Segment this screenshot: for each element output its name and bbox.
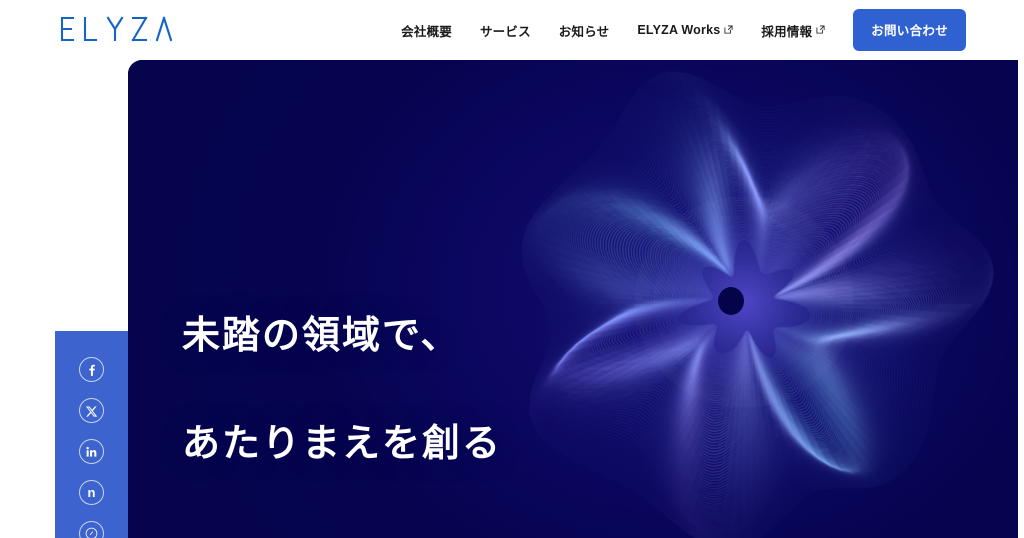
social-icon-partial[interactable] xyxy=(79,521,104,538)
nav-news[interactable]: お知らせ xyxy=(545,21,624,40)
external-link-icon xyxy=(816,25,825,34)
page-root: 会社概要 サービス お知らせ ELYZA Works 採用 xyxy=(0,0,1024,538)
external-link-icon xyxy=(724,25,733,34)
elyza-logo-mark xyxy=(60,16,172,42)
nav-news-label: お知らせ xyxy=(559,21,610,40)
nav-elyza-works-label: ELYZA Works xyxy=(637,23,720,37)
nav-service-label: サービス xyxy=(480,21,531,40)
elyza-logo[interactable] xyxy=(60,16,172,42)
nav-company[interactable]: 会社概要 xyxy=(387,21,466,40)
nav-service[interactable]: サービス xyxy=(466,21,545,40)
follow-rail: FOLLOW n xyxy=(55,60,128,538)
site-header: 会社概要 サービス お知らせ ELYZA Works 採用 xyxy=(0,0,1024,60)
nav-elyza-works[interactable]: ELYZA Works xyxy=(623,23,747,37)
x-icon[interactable] xyxy=(79,398,104,423)
nav-recruit-label: 採用情報 xyxy=(761,21,812,40)
nav-recruit[interactable]: 採用情報 xyxy=(747,21,839,40)
hero-section: 未踏の領域で、 あたりまえを創る xyxy=(128,60,1018,538)
social-links-panel: n xyxy=(55,331,128,538)
abstract-wave-sphere-graphic xyxy=(496,60,996,538)
facebook-icon[interactable] xyxy=(79,357,104,382)
nav-company-label: 会社概要 xyxy=(401,21,452,40)
main-navigation: 会社概要 サービス お知らせ ELYZA Works 採用 xyxy=(387,0,966,60)
hero-headline: 未踏の領域で、 あたりまえを創る xyxy=(182,256,502,526)
linkedin-icon[interactable] xyxy=(79,439,104,464)
note-icon-glyph: n xyxy=(88,486,96,499)
hero-headline-line-2: あたりまえを創る xyxy=(182,418,502,472)
contact-button[interactable]: お問い合わせ xyxy=(853,9,966,51)
note-icon[interactable]: n xyxy=(79,480,104,505)
hero-headline-line-1: 未踏の領域で、 xyxy=(182,310,502,364)
